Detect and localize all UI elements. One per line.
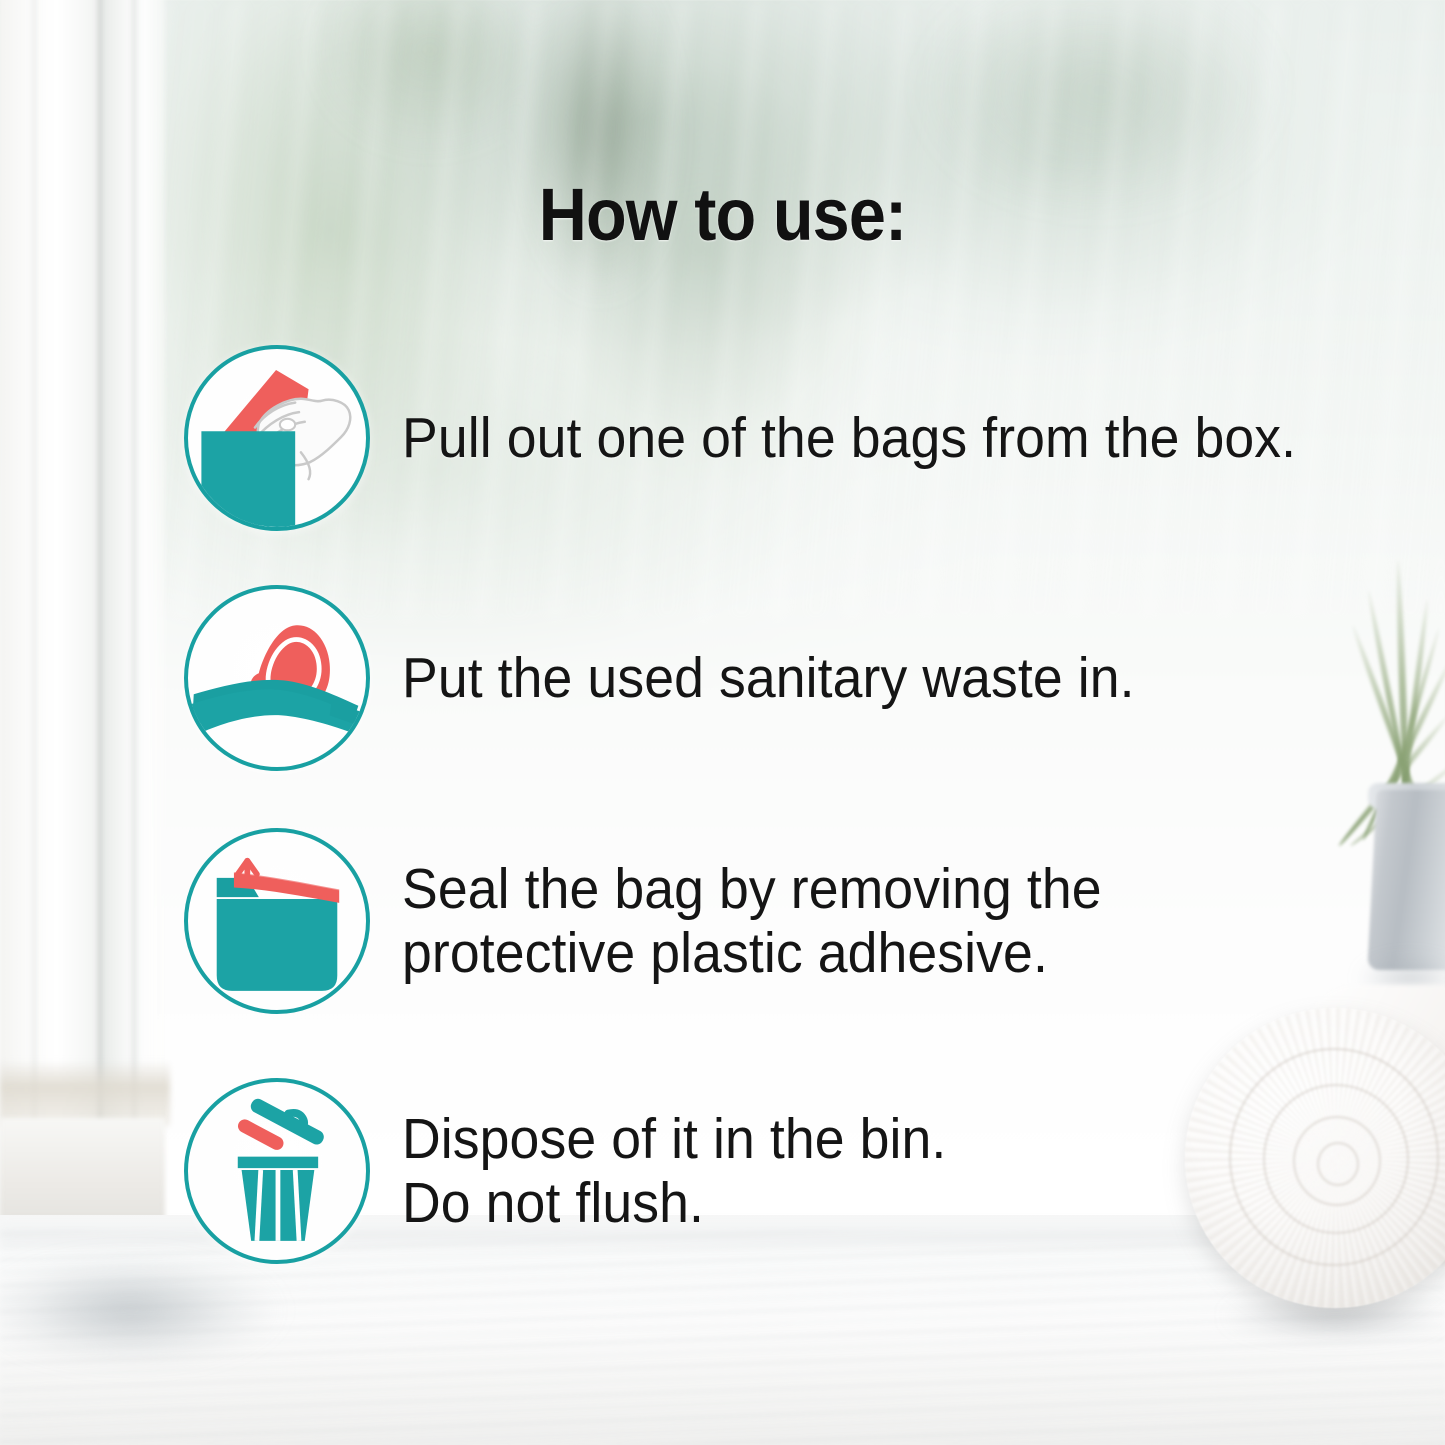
step-text-1: Pull out one of the bags from the box.: [402, 406, 1296, 470]
step-item-1: Pull out one of the bags from the box.: [184, 345, 1353, 531]
sanitary-pad-on-bag-icon: [184, 585, 370, 771]
step-text-3: Seal the bag by removing the protective …: [402, 857, 1102, 986]
step-item-2: Put the used sanitary waste in.: [184, 585, 1181, 771]
step-item-4: Dispose of it in the bin. Do not flush.: [184, 1078, 981, 1264]
step-text-2: Put the used sanitary waste in.: [402, 646, 1135, 710]
trash-bin-icon: [184, 1078, 370, 1264]
peel-adhesive-seal-bag-icon: [184, 828, 370, 1014]
step-item-3: Seal the bag by removing the protective …: [184, 828, 1146, 1014]
page-title: How to use:: [72, 172, 1373, 257]
hand-pulling-bag-from-box-icon: [184, 345, 370, 531]
step-text-4: Dispose of it in the bin. Do not flush.: [402, 1107, 946, 1236]
